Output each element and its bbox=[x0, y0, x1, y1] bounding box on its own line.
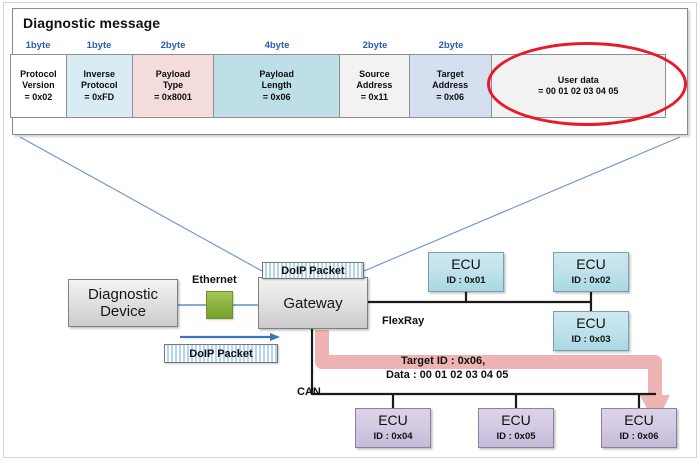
device-line-2: Device bbox=[100, 303, 146, 320]
field-value: = 0xFD bbox=[84, 92, 114, 104]
ecu-id: ID : 0x05 bbox=[496, 429, 535, 444]
field-value: = 0x06 bbox=[436, 92, 464, 104]
ecu-0x06-node[interactable]: ECU ID : 0x06 bbox=[601, 408, 677, 448]
ecu-title: ECU bbox=[378, 413, 408, 428]
field-value: = 0x06 bbox=[263, 92, 291, 104]
flexray-bus-label: FlexRay bbox=[382, 315, 424, 327]
ecu-title: ECU bbox=[501, 413, 531, 428]
ecu-0x03-node[interactable]: ECU ID : 0x03 bbox=[553, 311, 629, 351]
size-label-protocol-version: 1byte bbox=[10, 40, 66, 51]
field-payload-length: Payload Length = 0x06 bbox=[214, 55, 340, 117]
field-protocol-version: Protocol Version = 0x02 bbox=[11, 55, 67, 117]
field-line-2: Length bbox=[262, 80, 292, 92]
field-source-address: Source Address = 0x11 bbox=[340, 55, 410, 117]
ecu-0x04-node[interactable]: ECU ID : 0x04 bbox=[355, 408, 431, 448]
ethernet-connector-icon bbox=[206, 291, 233, 319]
field-value: = 0x8001 bbox=[154, 92, 192, 104]
field-line-1: Protocol bbox=[20, 69, 57, 81]
doip-packet-chip-gateway: DoIP Packet bbox=[262, 262, 364, 279]
field-line-2: User data bbox=[558, 75, 599, 87]
field-value: = 00 01 02 03 04 05 bbox=[538, 86, 618, 98]
ecu-id: ID : 0x06 bbox=[619, 429, 658, 444]
field-payload-type: Payload Type = 0x8001 bbox=[133, 55, 215, 117]
packet-field-strip: Protocol Version = 0x02 Inverse Protocol… bbox=[10, 54, 666, 118]
ecu-id: ID : 0x03 bbox=[571, 332, 610, 347]
ecu-title: ECU bbox=[576, 257, 606, 272]
field-line-2: Address bbox=[432, 80, 468, 92]
diagnostic-device-node[interactable]: Diagnostic Device bbox=[68, 279, 178, 327]
ecu-0x02-node[interactable]: ECU ID : 0x02 bbox=[553, 252, 629, 292]
device-line-1: Diagnostic bbox=[88, 286, 158, 303]
can-bus-label: CAN bbox=[297, 386, 321, 398]
ethernet-label: Ethernet bbox=[192, 274, 237, 286]
field-user-data: User data = 00 01 02 03 04 05 bbox=[492, 55, 665, 117]
field-line-1: Payload bbox=[156, 69, 191, 81]
field-line-1: Source bbox=[359, 69, 390, 81]
field-inverse-protocol: Inverse Protocol = 0xFD bbox=[67, 55, 133, 117]
field-value: = 0x02 bbox=[25, 92, 53, 104]
field-line-1: Inverse bbox=[83, 69, 115, 81]
ecu-0x01-node[interactable]: ECU ID : 0x01 bbox=[428, 252, 504, 292]
size-label-payload-type: 2byte bbox=[132, 40, 214, 51]
field-value: = 0x11 bbox=[361, 92, 388, 104]
size-label-payload-length: 4byte bbox=[214, 40, 340, 51]
field-line-2: Address bbox=[356, 80, 392, 92]
doip-packet-chip-ethernet: DoIP Packet bbox=[164, 344, 278, 363]
size-label-source-address: 2byte bbox=[340, 40, 410, 51]
field-line-2: Protocol bbox=[81, 80, 118, 92]
field-line-2: Version bbox=[22, 80, 55, 92]
ecu-id: ID : 0x02 bbox=[571, 273, 610, 288]
ecu-id: ID : 0x01 bbox=[446, 273, 485, 288]
field-line-2: Type bbox=[163, 80, 183, 92]
field-line-1: Target bbox=[437, 69, 464, 81]
panel-title: Diagnostic message bbox=[23, 15, 160, 31]
ecu-title: ECU bbox=[624, 413, 654, 428]
gateway-node[interactable]: Gateway bbox=[258, 277, 368, 329]
ecu-id: ID : 0x04 bbox=[373, 429, 412, 444]
ecu-0x05-node[interactable]: ECU ID : 0x05 bbox=[478, 408, 554, 448]
size-label-target-address: 2byte bbox=[410, 40, 492, 51]
ecu-title: ECU bbox=[576, 316, 606, 331]
gateway-label: Gateway bbox=[283, 295, 342, 312]
ecu-title: ECU bbox=[451, 257, 481, 272]
field-line-1: Payload bbox=[259, 69, 294, 81]
flow-message-line-1: Target ID : 0x06, bbox=[401, 355, 485, 367]
flow-message-line-2: Data : 00 01 02 03 04 05 bbox=[386, 369, 508, 381]
diagram-canvas: Diagnostic message 1byte 1byte 2byte 4by… bbox=[0, 0, 700, 462]
size-label-inverse-protocol: 1byte bbox=[66, 40, 132, 51]
field-target-address: Target Address = 0x06 bbox=[410, 55, 492, 117]
